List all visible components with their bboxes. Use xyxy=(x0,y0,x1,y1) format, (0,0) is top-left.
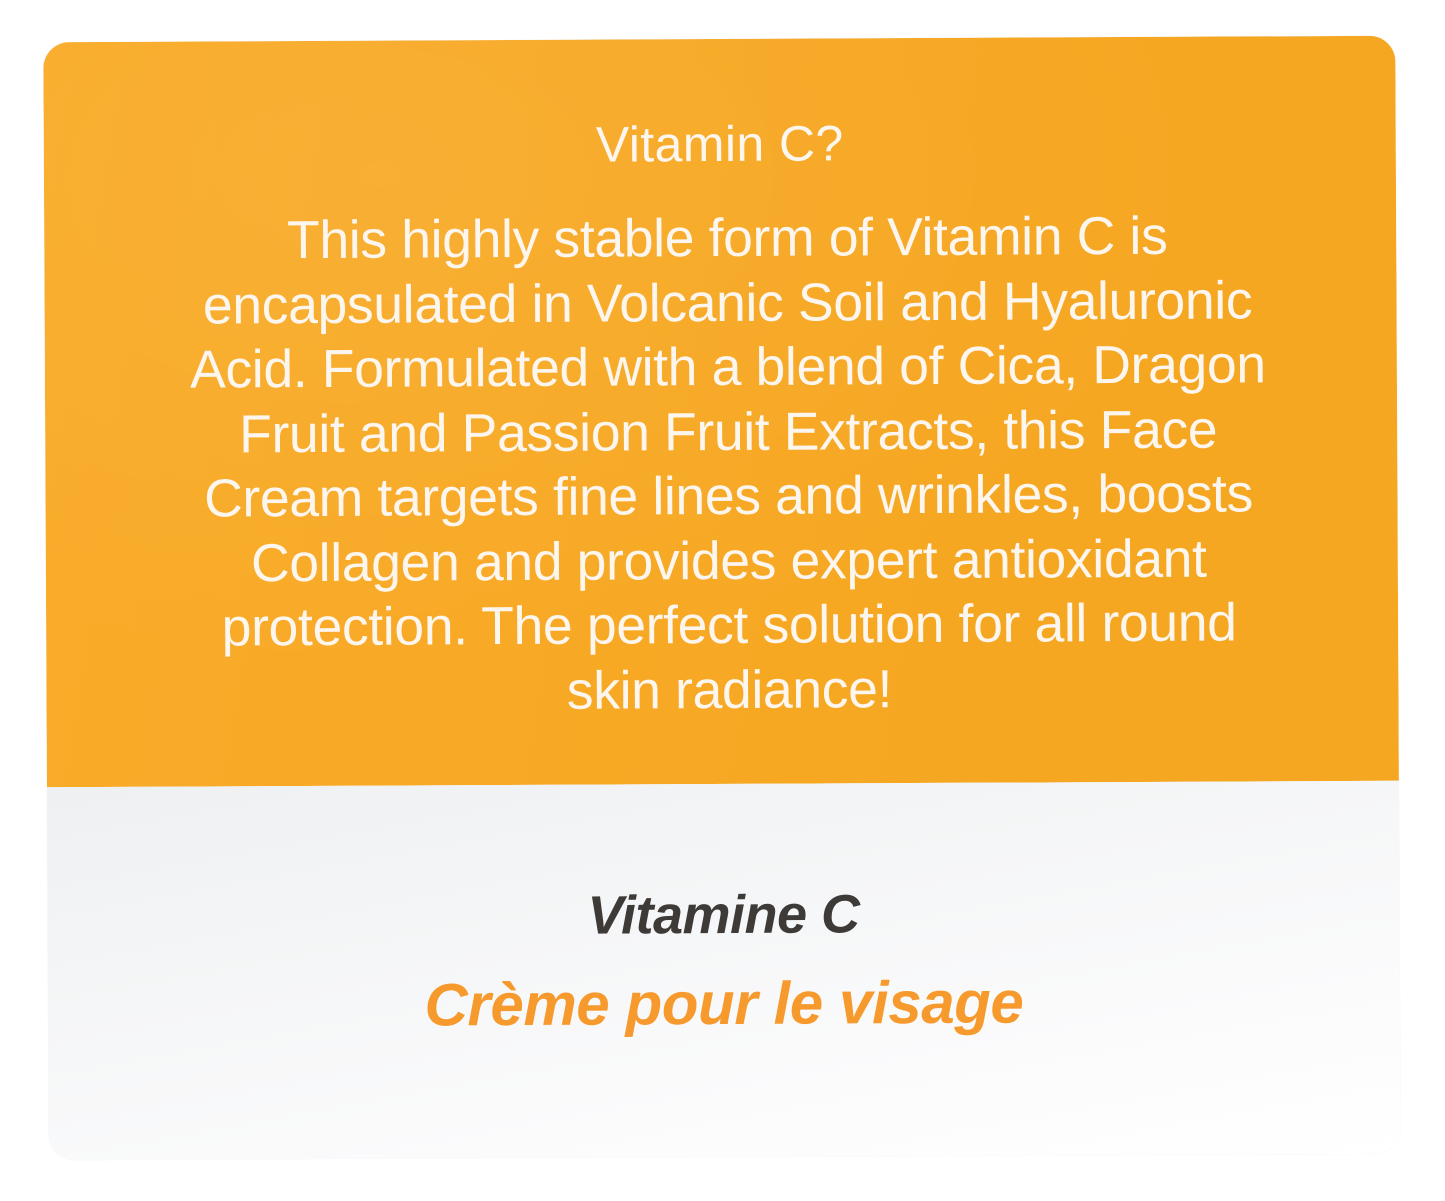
description-line: encapsulated in Volcanic Soil and Hyalur… xyxy=(96,268,1358,339)
description-line: Collagen and provides expert antioxidant xyxy=(98,526,1360,597)
label-orange-panel: Vitamin C? This highly stable form of Vi… xyxy=(43,36,1399,788)
french-product-name: Vitamine C xyxy=(47,881,1399,950)
description-line: skin radiance! xyxy=(98,655,1360,726)
description-line: Cream targets fine lines and wrinkles, b… xyxy=(97,462,1359,533)
label-description-paragraph: This highly stable form of Vitamin C is … xyxy=(96,204,1361,726)
label-heading: Vitamin C? xyxy=(44,112,1396,177)
label-white-panel: Vitamine C Crème pour le visage xyxy=(47,781,1401,1161)
description-line: Acid. Formulated with a blend of Cica, D… xyxy=(97,333,1359,404)
french-product-subtitle: Crème pour le visage xyxy=(48,966,1400,1042)
product-label-card: Vitamin C? This highly stable form of Vi… xyxy=(43,36,1400,1161)
description-line: This highly stable form of Vitamin C is xyxy=(96,204,1358,275)
description-line: Fruit and Passion Fruit Extracts, this F… xyxy=(97,397,1359,468)
description-line: protection. The perfect solution for all… xyxy=(98,591,1360,662)
